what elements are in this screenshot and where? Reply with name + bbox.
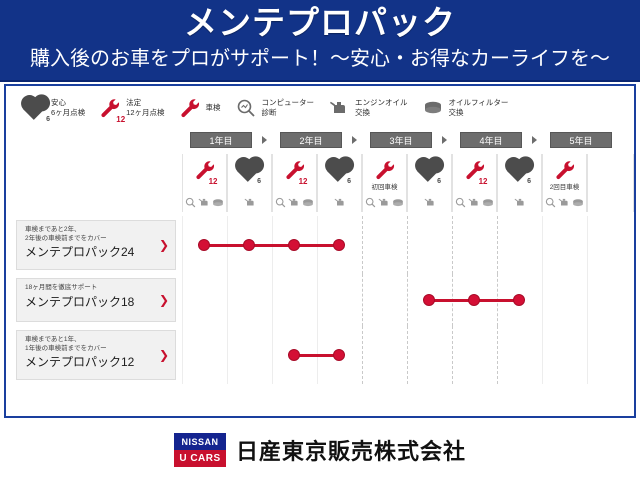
- wrench-icon: 12: [284, 157, 306, 183]
- legend-label: 安心 6ヶ月点検: [51, 98, 85, 118]
- legend-label-line1: 法定: [126, 98, 141, 107]
- service-column-8: 6: [497, 154, 542, 212]
- oilcan-icon: [468, 197, 480, 208]
- wrench-icon: [374, 157, 396, 183]
- package-desc-line1: 車検まであと1年、: [25, 336, 157, 345]
- oilcan-icon: [558, 197, 570, 208]
- service-column-2: 6: [227, 154, 272, 212]
- footer-branding: NISSAN U CARS 日産東京販売株式会社: [0, 420, 640, 480]
- oilcan-icon: [334, 197, 346, 208]
- oilcan-icon: [514, 197, 526, 208]
- timeline-track-24: [182, 216, 634, 274]
- service-badge: 6: [257, 178, 261, 186]
- page-title: メンテプロパック: [0, 2, 640, 44]
- package-row-12: 車検まであと1年、 1年後の車検前までをカバー メンテプロパック12 ❯: [6, 326, 634, 384]
- year-tab-5[interactable]: 5年目: [550, 132, 612, 148]
- package-name: メンテプロパック24: [25, 244, 157, 260]
- service-sub-icons: [273, 197, 316, 208]
- oilfilter-icon: [420, 95, 446, 121]
- heart-icon: 6: [510, 157, 529, 183]
- service-icon-row: 12 6: [182, 154, 634, 212]
- package-desc-line2: 2年後の車検前までをカバー: [25, 235, 157, 244]
- service-column-6: 6: [407, 154, 452, 212]
- heart-icon: 6: [240, 157, 259, 183]
- year-arrow-icon: [262, 136, 267, 144]
- oilfilter-icon: [302, 198, 314, 208]
- service-badge: 6: [437, 178, 441, 186]
- legend-label: コンピューター 診断: [262, 98, 315, 118]
- legend-label-line1: 車検: [206, 103, 221, 112]
- service-column-label: 初回車検: [372, 184, 398, 192]
- wrench-icon: 12: [194, 157, 216, 183]
- coverage-dot: [513, 294, 525, 306]
- year-tab-row: 1年目 2年目 3年目 4年目 5年目: [182, 130, 634, 152]
- wrench-icon: 12: [464, 157, 486, 183]
- legend-label-line1: 安心: [51, 98, 66, 107]
- wrench-icon: [177, 95, 203, 121]
- legend-label-line2: 12ヶ月点検: [126, 108, 164, 118]
- content-frame: 6 安心 6ヶ月点検 12 法定 1: [4, 84, 636, 418]
- package-desc-line2: 1年後の車検前までをカバー: [25, 345, 157, 354]
- coverage-span: [204, 244, 339, 247]
- service-legend: 6 安心 6ヶ月点検 12 法定 1: [6, 86, 634, 130]
- legend-item-anshin: 6 安心 6ヶ月点検: [22, 95, 85, 121]
- magnifier-icon: [275, 197, 286, 208]
- coverage-dot: [423, 294, 435, 306]
- year-tab-1[interactable]: 1年目: [190, 132, 252, 148]
- coverage-dot: [333, 239, 345, 251]
- coverage-dot: [198, 239, 210, 251]
- service-column-3: 12: [272, 154, 317, 212]
- service-badge: 12: [209, 178, 218, 186]
- maintenance-package-chart: メンテプロパック 購入後のお車をプロがサポート！～安心・お得なカーライフを～ 6…: [0, 0, 640, 480]
- service-sub-icons: [228, 197, 271, 208]
- magnifier-icon: [455, 197, 466, 208]
- coverage-dot: [468, 294, 480, 306]
- service-column-5: 初回車検: [362, 154, 407, 212]
- header-banner: メンテプロパック 購入後のお車をプロがサポート！～安心・お得なカーライフを～: [0, 0, 640, 82]
- nissan-ucars-logo: NISSAN U CARS: [174, 433, 226, 467]
- legend-item-oil-filter: オイルフィルター 交換: [420, 95, 509, 121]
- package-name: メンテプロパック12: [25, 354, 157, 370]
- package-label-18[interactable]: 18ヶ月間を徹底サポート メンテプロパック18 ❯: [16, 278, 176, 322]
- package-label-12[interactable]: 車検まであと1年、 1年後の車検前までをカバー メンテプロパック12 ❯: [16, 330, 176, 380]
- chevron-right-icon[interactable]: ❯: [159, 239, 169, 251]
- oilcan-icon: [378, 197, 390, 208]
- legend-label: 車検: [206, 103, 221, 113]
- package-desc-line1: 車検まであと2年、: [25, 226, 157, 235]
- service-sub-icons: [318, 197, 361, 208]
- service-column-4: 6: [317, 154, 362, 212]
- heart-icon: 6: [420, 157, 439, 183]
- year-tab-4[interactable]: 4年目: [460, 132, 522, 148]
- legend-label: 法定 12ヶ月点検: [126, 98, 164, 118]
- oilcan-icon: [424, 197, 436, 208]
- legend-badge: 6: [46, 116, 50, 124]
- package-rows: 車検まであと2年、 2年後の車検前までをカバー メンテプロパック24 ❯: [6, 216, 634, 416]
- service-column-7: 12: [452, 154, 497, 212]
- coverage-dot: [243, 239, 255, 251]
- service-column-label: 2回目車検: [550, 184, 580, 192]
- wrench-icon: [554, 157, 576, 183]
- legend-label: エンジンオイル 交換: [355, 98, 408, 118]
- service-sub-icons: [363, 197, 406, 208]
- year-tab-3[interactable]: 3年目: [370, 132, 432, 148]
- service-sub-icons: [498, 197, 541, 208]
- legend-label: オイルフィルター 交換: [449, 98, 509, 118]
- package-desc-line1: 18ヶ月間を徹底サポート: [25, 284, 157, 293]
- year-arrow-icon: [352, 136, 357, 144]
- service-sub-icons: [453, 197, 496, 208]
- legend-badge: 12: [116, 116, 125, 124]
- timeline-track-18: [182, 274, 634, 326]
- package-row-18: 18ヶ月間を徹底サポート メンテプロパック18 ❯: [6, 274, 634, 326]
- service-badge: 6: [347, 178, 351, 186]
- service-sub-icons: [408, 197, 451, 208]
- package-row-24: 車検まであと2年、 2年後の車検前までをカバー メンテプロパック24 ❯: [6, 216, 634, 274]
- legend-label-line2: 交換: [449, 108, 509, 118]
- service-badge: 12: [299, 178, 308, 186]
- chevron-right-icon[interactable]: ❯: [159, 349, 169, 361]
- service-sub-icons: [183, 197, 226, 208]
- nissan-wordmark: NISSAN: [174, 433, 226, 450]
- coverage-dot: [288, 349, 300, 361]
- oilfilter-icon: [212, 198, 224, 208]
- legend-item-houtei: 12 法定 12ヶ月点検: [97, 95, 164, 121]
- oilfilter-icon: [572, 198, 584, 208]
- heart-icon: 6: [330, 157, 349, 183]
- package-label-24[interactable]: 車検まであと2年、 2年後の車検前までをカバー メンテプロパック24 ❯: [16, 220, 176, 270]
- oilcan-icon: [198, 197, 210, 208]
- magnifier-icon: [545, 197, 556, 208]
- coverage-dot: [333, 349, 345, 361]
- legend-label-line1: コンピューター: [262, 98, 315, 107]
- legend-label-line2: 診断: [262, 108, 315, 118]
- legend-item-shaken: 車検: [177, 95, 221, 121]
- magnifier-icon: [185, 197, 196, 208]
- package-name: メンテプロパック18: [25, 294, 157, 310]
- year-arrow-icon: [532, 136, 537, 144]
- service-column-10: [587, 154, 634, 212]
- company-name: 日産東京販売株式会社: [236, 434, 466, 466]
- oilcan-icon: [326, 95, 352, 121]
- magnifier-icon: [233, 95, 259, 121]
- legend-label-line2: 交換: [355, 108, 408, 118]
- oilcan-icon: [288, 197, 300, 208]
- oilfilter-icon: [482, 198, 494, 208]
- magnifier-icon: [365, 197, 376, 208]
- legend-label-line1: エンジンオイル: [355, 98, 408, 107]
- legend-item-engine-oil: エンジンオイル 交換: [326, 95, 408, 121]
- legend-item-computer-diagnosis: コンピューター 診断: [233, 95, 315, 121]
- service-column-1: 12: [182, 154, 227, 212]
- year-tab-2[interactable]: 2年目: [280, 132, 342, 148]
- ucars-wordmark: U CARS: [174, 450, 226, 467]
- timeline-track-12: [182, 326, 634, 384]
- year-arrow-icon: [442, 136, 447, 144]
- oilcan-icon: [244, 197, 256, 208]
- service-badge: 12: [479, 178, 488, 186]
- timeline-grid: 1年目 2年目 3年目 4年目 5年目 12: [6, 130, 634, 418]
- wrench-icon: 12: [97, 95, 123, 121]
- chevron-right-icon[interactable]: ❯: [159, 294, 169, 306]
- heart-icon: 6: [22, 95, 48, 121]
- service-sub-icons: [543, 197, 586, 208]
- coverage-dot: [288, 239, 300, 251]
- service-column-9: 2回目車検: [542, 154, 587, 212]
- page-subtitle: 購入後のお車をプロがサポート！～安心・お得なカーライフを～: [0, 46, 640, 72]
- legend-label-line1: オイルフィルター: [449, 98, 509, 107]
- service-badge: 6: [527, 178, 531, 186]
- legend-label-line2: 6ヶ月点検: [51, 108, 85, 118]
- oilfilter-icon: [392, 198, 404, 208]
